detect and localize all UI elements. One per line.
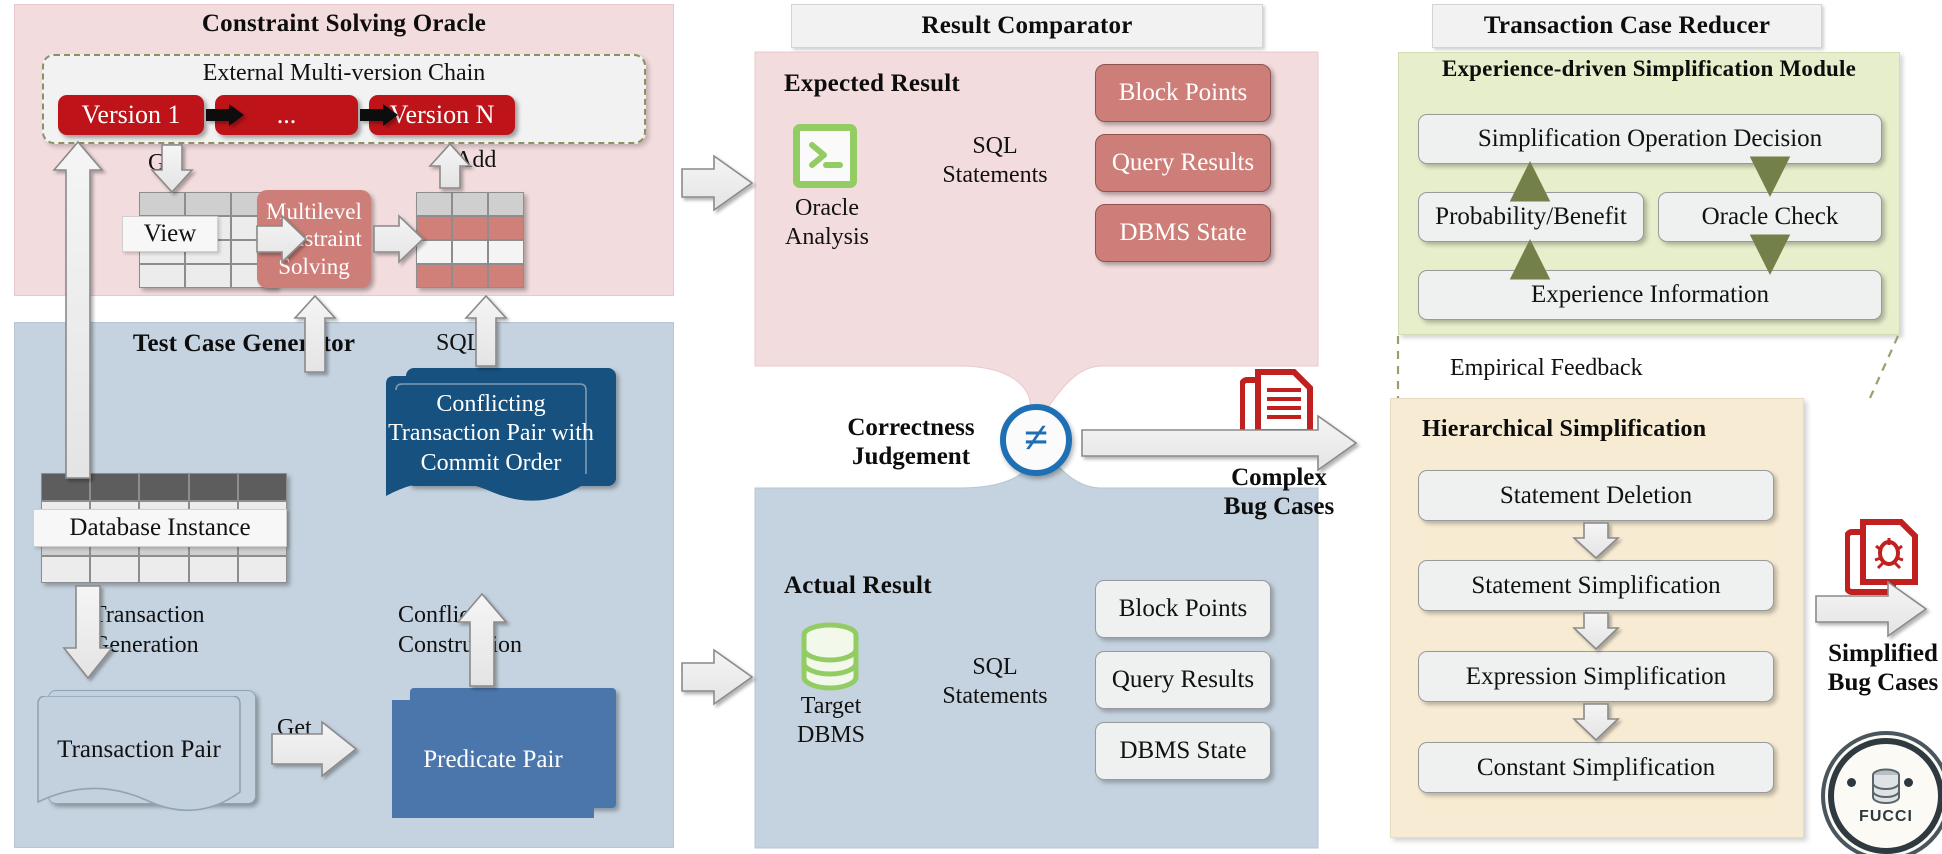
actual-block-points[interactable]: Block Points <box>1095 580 1271 638</box>
fucci-logo: FUCCI <box>1828 738 1942 854</box>
view-tag: View <box>122 216 218 252</box>
version-box-n[interactable]: Version N <box>369 95 515 135</box>
predicate-pair-stack[interactable]: Predicate Pair <box>390 688 630 822</box>
simplification-operation-decision[interactable]: Simplification Operation Decision <box>1418 114 1882 164</box>
conflict-construction-label: Conflict Construction <box>398 600 578 660</box>
result-grid <box>416 192 524 288</box>
actual-sql-statements-label: SQL Statements <box>940 653 1050 712</box>
constant-simplification[interactable]: Constant Simplification <box>1418 742 1774 793</box>
correctness-judgement-label: Correctness Judgement <box>836 414 986 472</box>
hierarchical-simplification-title: Hierarchical Simplification <box>1422 416 1706 443</box>
experience-module-title: Experience-driven Simplification Module <box>1398 56 1900 82</box>
multilevel-constraint-solving-box[interactable]: Multilevel Constraint Solving <box>257 190 371 288</box>
expected-block-points[interactable]: Block Points <box>1095 64 1271 122</box>
transaction-pair-label: Transaction Pair <box>36 736 242 764</box>
expected-result-title: Expected Result <box>784 70 960 98</box>
multilevel-constraint-solving-label: Multilevel Constraint Solving <box>257 198 371 279</box>
external-multiversion-chain-label: External Multi-version Chain <box>42 60 646 87</box>
target-dbms-caption: Target DBMS <box>782 692 880 750</box>
fucci-logo-dot-right <box>1904 778 1913 787</box>
transaction-case-reducer-title: Transaction Case Reducer <box>1484 12 1770 40</box>
actual-dbms-state[interactable]: DBMS State <box>1095 722 1271 780</box>
sql-label-generator: SQL <box>436 330 481 357</box>
transaction-generation-label: Transaction Generation <box>92 600 282 660</box>
actual-result-title: Actual Result <box>784 572 932 600</box>
empirical-feedback-label: Empirical Feedback <box>1450 355 1643 382</box>
version-box-middle[interactable]: ... <box>215 95 358 135</box>
not-equal-symbol: ≠ <box>1024 416 1048 460</box>
expected-dbms-state[interactable]: DBMS State <box>1095 204 1271 262</box>
terminal-icon <box>793 124 857 188</box>
conflicting-transaction-pair-label: Conflicting Transaction Pair with Commit… <box>388 390 594 478</box>
statement-simplification[interactable]: Statement Simplification <box>1418 560 1774 611</box>
get-label-generator: Get <box>277 715 312 742</box>
conflicting-transaction-pair-stack[interactable]: Conflicting Transaction Pair with Commit… <box>384 368 640 508</box>
expression-simplification[interactable]: Expression Simplification <box>1418 651 1774 702</box>
result-comparator-header: Result Comparator <box>791 4 1263 48</box>
result-comparator-title: Result Comparator <box>921 12 1132 40</box>
database-icon <box>798 622 862 692</box>
predicate-pair-label: Predicate Pair <box>390 746 596 774</box>
complex-bug-cases-label: Complex Bug Cases <box>1216 464 1342 522</box>
transaction-case-reducer-header: Transaction Case Reducer <box>1432 4 1822 48</box>
expected-query-results[interactable]: Query Results <box>1095 134 1271 192</box>
database-instance-tag: Database Instance <box>33 509 287 547</box>
version-box-1[interactable]: Version 1 <box>58 95 204 135</box>
probability-benefit[interactable]: Probability/Benefit <box>1418 192 1644 242</box>
bug-report-docs-icon <box>1240 368 1314 444</box>
add-label-oracle: Add <box>455 147 496 174</box>
oracle-analysis-caption: Oracle Analysis <box>778 194 876 252</box>
get-label-oracle: Get <box>148 150 183 177</box>
oracle-check[interactable]: Oracle Check <box>1658 192 1882 242</box>
test-case-generator-title: Test Case Generator <box>14 330 474 358</box>
fucci-logo-text: FUCCI <box>1859 808 1913 826</box>
experience-information[interactable]: Experience Information <box>1418 270 1882 320</box>
statement-deletion[interactable]: Statement Deletion <box>1418 470 1774 521</box>
fucci-logo-dot-left <box>1847 778 1856 787</box>
expected-sql-statements-label: SQL Statements <box>940 132 1050 191</box>
constraint-solving-oracle-title: Constraint Solving Oracle <box>14 10 674 38</box>
transaction-pair-stack[interactable]: Transaction Pair <box>36 690 266 820</box>
simplified-bug-docs-icon <box>1845 518 1919 596</box>
not-equal-icon: ≠ <box>1000 404 1072 476</box>
actual-query-results[interactable]: Query Results <box>1095 651 1271 709</box>
simplified-bug-cases-label: Simplified Bug Cases <box>1824 640 1942 698</box>
